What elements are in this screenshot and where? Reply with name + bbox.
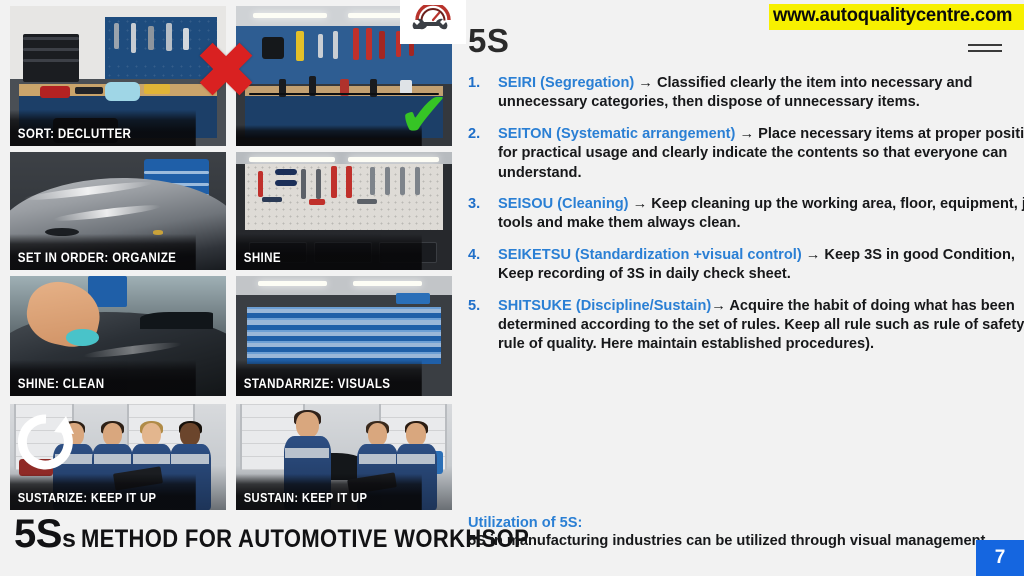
slide-5s-method: SORT: DECLUTTER — [0, 0, 1024, 576]
utilization-body: 5S in manufacturing industries can be ut… — [468, 532, 1020, 551]
page-number-badge: 7 — [976, 540, 1024, 576]
list-item: 3.SEISOU (Cleaning) → Keep cleaning up t… — [498, 195, 1024, 234]
cross-mark-icon: ✖ — [195, 34, 257, 108]
gauge-wrench-icon — [407, 5, 459, 39]
section-heading: 5S — [468, 22, 509, 60]
list-item-number: 1. — [468, 74, 480, 93]
collage-cell-standardize-visuals: STANDARRIZE: VISUALS — [236, 276, 452, 396]
utilization-block: Utilization of 5S: 5S in manufacturing i… — [468, 514, 1020, 551]
list-item-arrow: → — [739, 126, 754, 142]
list-item: 5.SHITSUKE (Discipline/Sustain)→ Acquire… — [498, 297, 1024, 355]
website-url-text: www.autoqualitycentre.com — [773, 5, 1012, 27]
collage-caption: SORT: DECLUTTER — [10, 110, 196, 146]
collage-cell-sustarize-keep-it-up: SUSTARIZE: KEEP IT UP — [10, 404, 226, 510]
equals-lines-icon — [968, 40, 1002, 53]
collage-caption: STANDARRIZE: VISUALS — [236, 360, 422, 396]
list-item: 1.SEIRI (Segregation) → Classified clear… — [498, 74, 1024, 113]
list-item-term: SEISOU (Cleaning) — [498, 196, 629, 212]
list-item-term: SEIRI (Segregation) — [498, 75, 634, 91]
website-url[interactable]: www.autoqualitycentre.com — [769, 4, 1024, 30]
list-item-number: 5. — [468, 297, 480, 316]
list-item-arrow: → — [638, 75, 653, 91]
list-item-number: 3. — [468, 195, 480, 214]
page-title-5s: 5S — [14, 512, 62, 556]
list-item: 2.SEITON (Systematic arrangement) → Plac… — [498, 125, 1024, 183]
collage-cell-sustain-keep-it-up: SUSTAIN: KEEP IT UP — [236, 404, 452, 510]
image-collage: SORT: DECLUTTER — [10, 6, 452, 510]
list-item-term: SHITSUKE (Discipline/Sustain) — [498, 298, 711, 314]
collage-cell-sort-declutter: SORT: DECLUTTER — [10, 6, 226, 146]
brand-logo — [400, 0, 466, 44]
collage-cell-set-in-order: SET IN ORDER: ORGANIZE — [10, 152, 226, 270]
list-item-term: SEITON (Systematic arrangement) — [498, 126, 735, 142]
list-item-number: 4. — [468, 246, 480, 265]
list-item: 4.SEIKETSU (Standardization +visual cont… — [498, 246, 1024, 285]
collage-caption: SUSTAIN: KEEP IT UP — [236, 474, 422, 510]
list-item-term: SEIKETSU (Standardization +visual contro… — [498, 247, 802, 263]
utilization-heading: Utilization of 5S: — [468, 514, 1020, 532]
list-item-arrow: → — [711, 298, 726, 314]
collage-caption: SHINE: CLEAN — [10, 360, 196, 396]
collage-cell-shine-clean: SHINE: CLEAN — [10, 276, 226, 396]
collage-caption — [236, 125, 422, 146]
cycle-arrow-icon — [16, 412, 76, 472]
list-item-number: 2. — [468, 125, 480, 144]
list-item-arrow: → — [633, 196, 648, 212]
collage-caption: SET IN ORDER: ORGANIZE — [10, 234, 196, 270]
collage-caption: SUSTARIZE: KEEP IT UP — [10, 474, 196, 510]
five-s-list: 1.SEIRI (Segregation) → Classified clear… — [468, 74, 1024, 367]
collage-cell-shine-toolboard: SHINE — [236, 152, 452, 270]
collage-caption: SHINE — [236, 234, 422, 270]
list-item-arrow: → — [806, 247, 821, 263]
check-mark-icon: ✔ — [398, 84, 450, 146]
content-panel: 5S www.autoqualitycentre.com 1.SEIRI (Se… — [462, 0, 1024, 576]
page-title-s: s — [62, 525, 76, 553]
